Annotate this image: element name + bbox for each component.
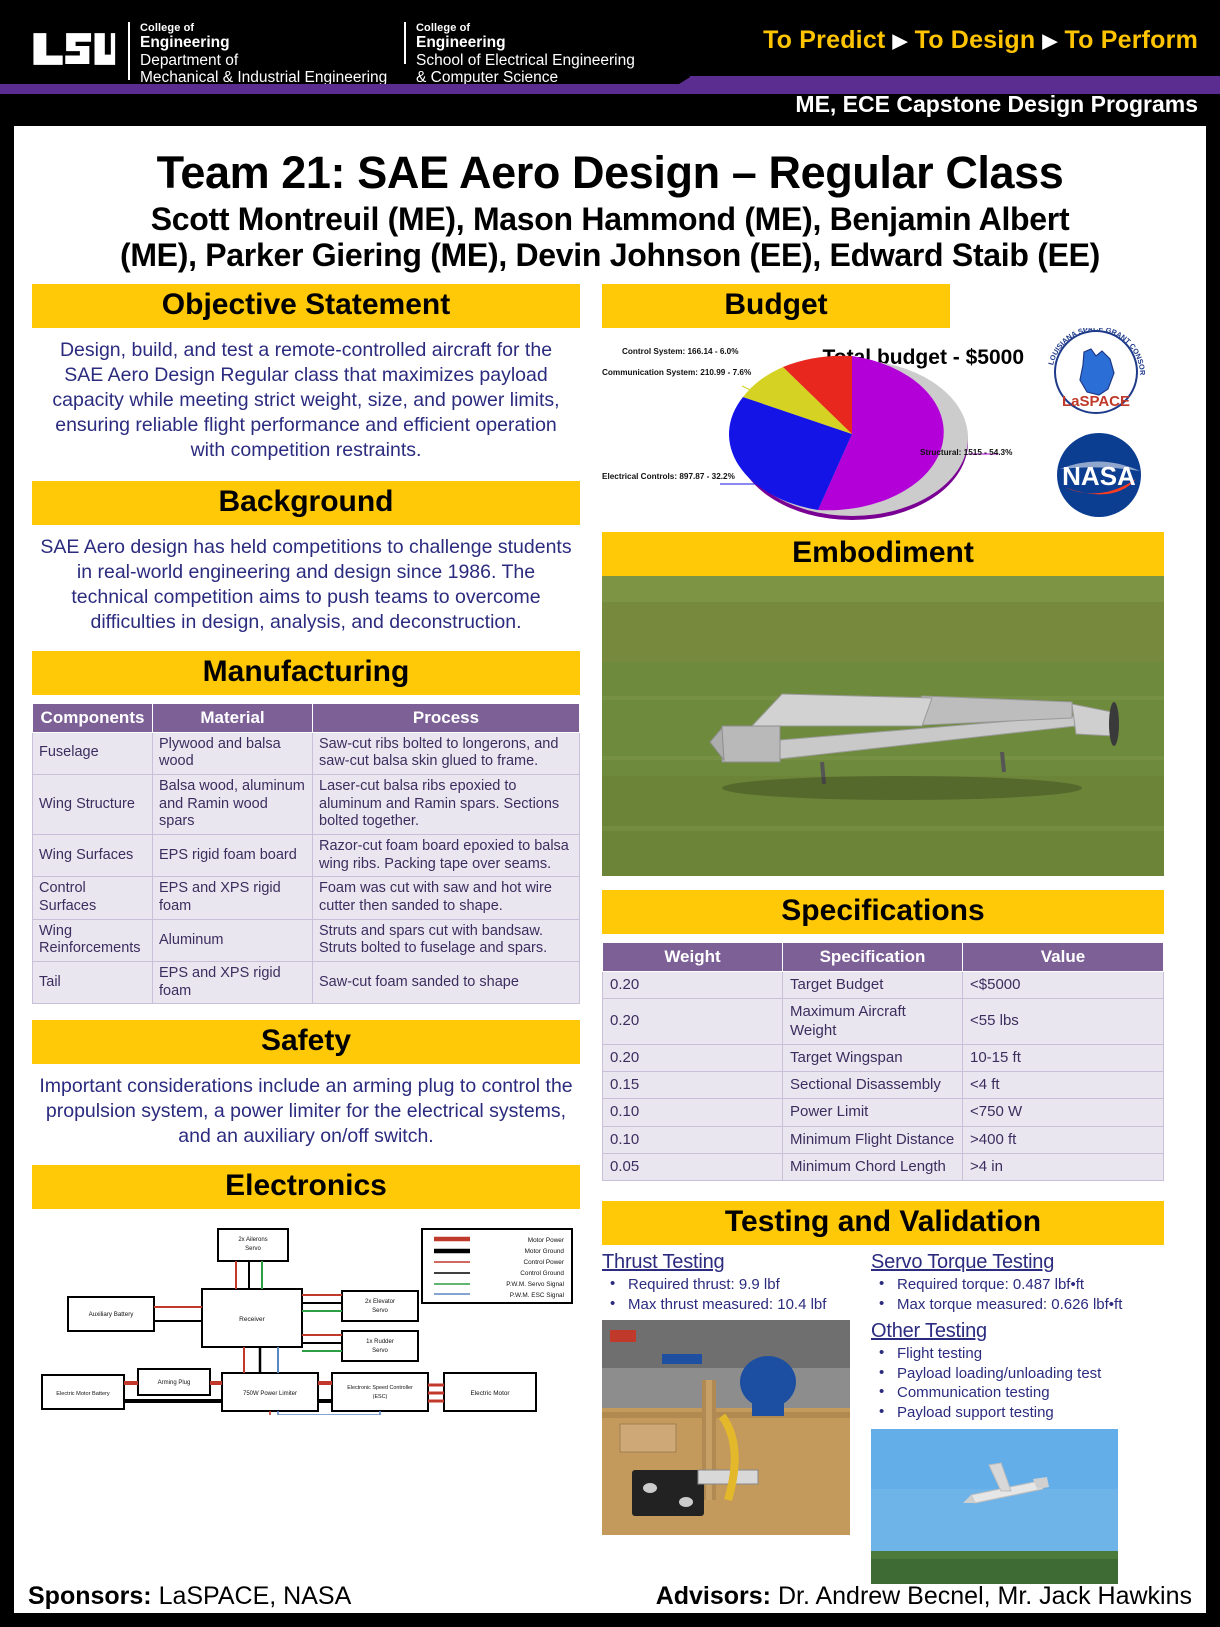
cell-weight: 0.10 [603,1126,783,1153]
cell-weight: 0.20 [603,999,783,1045]
author-line-1: Scott Montreuil (ME), Mason Hammond (ME)… [32,201,1188,237]
cell-value: >400 ft [963,1126,1164,1153]
table-row: Fuselage Plywood and balsa wood Saw-cut … [33,732,580,774]
list-item: Payload loading/unloading test [871,1364,1161,1384]
servo-other-testing-block: Servo Torque Testing Required torque: 0.… [871,1251,1161,1584]
me-department-block: College of Engineering Department of Mec… [140,22,387,86]
manufacturing-header-row: Components Material Process [33,703,580,732]
elec-label-receiver: Receiver [239,1316,265,1323]
svg-text:(ESC): (ESC) [373,1394,388,1400]
sponsors-block: Sponsors: LaSPACE, NASA [28,1582,548,1611]
cell-component: Wing Reinforcements [33,919,153,961]
spec-col-specification: Specification [783,942,963,971]
nasa-logo-icon: NASA [1046,427,1152,523]
table-row: 0.20 Maximum Aircraft Weight <55 lbs [603,999,1164,1045]
cell-value: <4 ft [963,1072,1164,1099]
cell-spec: Power Limit [783,1099,963,1126]
budget-heading: Budget [602,284,950,328]
arrow-right-icon-2: ▶ [1043,31,1058,52]
cell-material: EPS rigid foam board [153,834,313,876]
left-column: Objective Statement Design, build, and t… [32,284,580,1584]
laspace-logo-icon: LOUISIANA SPACE GRANT CONSORTIUM LaSPACE [1034,328,1158,420]
elec-label-motor-battery: Electric Motor Battery [56,1391,110,1397]
table-row: Wing Reinforcements Aluminum Struts and … [33,919,580,961]
purple-rule-right [690,76,1220,86]
cell-component: Tail [33,962,153,1004]
cell-weight: 0.20 [603,971,783,998]
cell-spec: Target Budget [783,971,963,998]
electronics-heading: Electronics [32,1165,580,1209]
list-item: Max torque measured: 0.626 lbf•ft [871,1295,1161,1315]
cell-component: Fuselage [33,732,153,774]
spec-col-weight: Weight [603,942,783,971]
ece-school-line1: School of Electrical Engineering [416,52,635,69]
thrust-testing-heading: Thrust Testing [602,1251,857,1274]
embodiment-heading: Embodiment [602,532,1164,576]
page-title: Team 21: SAE Aero Design – Regular Class [32,150,1188,195]
list-item: Communication testing [871,1383,1161,1403]
cell-process: Saw-cut foam sanded to shape [313,962,580,1004]
list-item: Payload support testing [871,1403,1161,1423]
right-column: Budget Total budget - $5000 [602,284,1164,1584]
elec-label-rudder: 1x Rudder [366,1339,394,1345]
legend-control-ground: Control Ground [520,1270,564,1277]
spec-col-value: Value [963,942,1164,971]
pie-label-control-system: Control System: 166.14 - 6.0% [622,347,739,356]
background-text: SAE Aero design has held competitions to… [32,525,580,635]
testing-columns: Thrust Testing Required thrust: 9.9 lbf … [602,1251,1164,1584]
testing-heading: Testing and Validation [602,1201,1164,1245]
advisors-block: Advisors: Dr. Andrew Becnel, Mr. Jack Ha… [548,1582,1192,1611]
thrust-test-photo [602,1320,850,1535]
tagline-perform: To Perform [1065,26,1199,54]
cell-process: Struts and spars cut with bandsaw. Strut… [313,919,580,961]
cell-weight: 0.20 [603,1044,783,1071]
cell-component: Control Surfaces [33,877,153,919]
cell-spec: Minimum Flight Distance [783,1126,963,1153]
other-testing-heading: Other Testing [871,1320,1161,1343]
cell-material: Plywood and balsa wood [153,732,313,774]
ece-engineering-label: Engineering [416,34,635,51]
cell-spec: Maximum Aircraft Weight [783,999,963,1045]
elec-label-esc: Electronic Speed Controller [347,1385,413,1391]
cell-material: EPS and XPS rigid foam [153,962,313,1004]
elec-label-ailerons: 2x Ailerons [238,1237,267,1243]
flight-test-photo [871,1429,1118,1584]
sponsor-logos: LOUISIANA SPACE GRANT CONSORTIUM LaSPACE… [1034,328,1164,523]
author-list: Scott Montreuil (ME), Mason Hammond (ME)… [32,201,1188,274]
legend-pwm-servo: P.W.M. Servo Signal [506,1281,564,1288]
table-row: 0.05 Minimum Chord Length >4 in [603,1154,1164,1181]
legend-pwm-esc: P.W.M. ESC Signal [510,1292,564,1299]
me-dept-line1: Department of [140,52,387,69]
arrow-right-icon-1: ▶ [893,31,908,52]
cell-spec: Target Wingspan [783,1044,963,1071]
poster-canvas: Team 21: SAE Aero Design – Regular Class… [14,126,1206,1613]
legend-motor-power: Motor Power [528,1237,565,1244]
safety-heading: Safety [32,1020,580,1064]
cell-weight: 0.10 [603,1099,783,1126]
page-header: College of Engineering Department of Mec… [0,0,1220,122]
electronics-diagram: 2x Ailerons Servo Receiver 2x Elevator S… [32,1215,580,1415]
budget-section: Total budget - $5000 [602,328,1164,526]
manufacturing-col-components: Components [33,703,153,732]
servo-testing-list: Required torque: 0.487 lbf•ft Max torque… [871,1275,1161,1314]
cell-value: 10-15 ft [963,1044,1164,1071]
legend-motor-ground: Motor Ground [525,1248,565,1255]
sponsors-label: Sponsors: [28,1582,152,1610]
servo-testing-heading: Servo Torque Testing [871,1251,1161,1274]
list-item: Required thrust: 9.9 lbf [602,1275,857,1295]
cell-spec: Sectional Disassembly [783,1072,963,1099]
list-item: Max thrust measured: 10.4 lbf [602,1295,857,1315]
cell-material: Aluminum [153,919,313,961]
manufacturing-col-material: Material [153,703,313,732]
pie-label-structural: Structural: 1515 - 54.3% [920,448,1012,457]
manufacturing-col-process: Process [313,703,580,732]
pie-label-electrical-controls: Electrical Controls: 897.87 - 32.2% [602,472,735,481]
poster-columns: Objective Statement Design, build, and t… [32,284,1188,1584]
table-row: 0.20 Target Wingspan 10-15 ft [603,1044,1164,1071]
cell-process: Razor-cut foam board epoxied to balsa wi… [313,834,580,876]
cell-value: <$5000 [963,971,1164,998]
cell-material: EPS and XPS rigid foam [153,877,313,919]
other-testing-list: Flight testing Payload loading/unloading… [871,1344,1161,1422]
svg-text:Servo: Servo [372,1308,388,1314]
embodiment-photo [602,576,1164,876]
capstone-program-label: ME, ECE Capstone Design Programs [795,91,1198,118]
cell-value: >4 in [963,1154,1164,1181]
cell-process: Saw-cut ribs bolted to longerons, and sa… [313,732,580,774]
table-row: Wing Surfaces EPS rigid foam board Razor… [33,834,580,876]
cell-material: Balsa wood, aluminum and Ramin wood spar… [153,774,313,834]
tagline-predict: To Predict [763,26,885,54]
table-row: 0.10 Minimum Flight Distance >400 ft [603,1126,1164,1153]
manufacturing-heading: Manufacturing [32,651,580,695]
table-row: Tail EPS and XPS rigid foam Saw-cut foam… [33,962,580,1004]
budget-pie-chart: Control System: 166.14 - 6.0% Communicat… [602,334,1022,524]
elec-label-arming-plug: Arming Plug [158,1380,191,1386]
elec-label-motor: Electric Motor [470,1390,510,1397]
program-tagline: To Predict ▶ To Design ▶ To Perform [763,26,1198,55]
elec-label-power-limiter: 750W Power Limiter [243,1391,297,1397]
cell-value: <55 lbs [963,999,1164,1045]
manufacturing-table: Components Material Process Fuselage Ply… [32,703,580,1005]
cell-component: Wing Surfaces [33,834,153,876]
tagline-design: To Design [915,26,1036,54]
elec-label-aux-battery: Auxiliary Battery [89,1311,135,1318]
svg-text:Servo: Servo [372,1348,388,1354]
legend-control-power: Control Power [524,1259,565,1266]
table-row: Control Surfaces EPS and XPS rigid foam … [33,877,580,919]
sponsors-value: LaSPACE, NASA [159,1582,352,1610]
svg-text:Servo: Servo [245,1246,261,1252]
specifications-heading: Specifications [602,890,1164,934]
elec-label-elevator: 2x Elevator [365,1299,395,1305]
pie-label-communication-system: Communication System: 210.99 - 7.6% [602,368,751,377]
objective-text: Design, build, and test a remote-control… [32,328,580,463]
author-line-2: (ME), Parker Giering (ME), Devin Johnson… [32,237,1188,273]
table-row: 0.20 Target Budget <$5000 [603,971,1164,998]
thrust-testing-block: Thrust Testing Required thrust: 9.9 lbf … [602,1251,857,1584]
ece-college-label: College of [416,22,635,34]
table-row: Wing Structure Balsa wood, aluminum and … [33,774,580,834]
advisors-label: Advisors: [656,1582,771,1610]
header-divider-1 [128,22,130,80]
table-row: 0.15 Sectional Disassembly <4 ft [603,1072,1164,1099]
advisors-value: Dr. Andrew Becnel, Mr. Jack Hawkins [778,1582,1192,1610]
background-heading: Background [32,481,580,525]
nasa-wordmark: NASA [1062,461,1136,491]
cell-spec: Minimum Chord Length [783,1154,963,1181]
cell-weight: 0.05 [603,1154,783,1181]
safety-text: Important considerations include an armi… [32,1064,580,1149]
cell-process: Foam was cut with saw and hot wire cutte… [313,877,580,919]
poster-footer: Sponsors: LaSPACE, NASA Advisors: Dr. An… [14,1582,1206,1611]
table-row: 0.10 Power Limit <750 W [603,1099,1164,1126]
lsu-logo-icon [30,28,116,70]
thrust-testing-list: Required thrust: 9.9 lbf Max thrust meas… [602,1275,857,1314]
list-item: Flight testing [871,1344,1161,1364]
cell-process: Laser-cut balsa ribs epoxied to aluminum… [313,774,580,834]
objective-heading: Objective Statement [32,284,580,328]
list-item: Required torque: 0.487 lbf•ft [871,1275,1161,1295]
me-engineering-label: Engineering [140,34,387,51]
specifications-table: Weight Specification Value 0.20 Target B… [602,942,1164,1181]
ece-department-block: College of Engineering School of Electri… [416,22,635,86]
laspace-wordmark: LaSPACE [1062,393,1130,410]
cell-value: <750 W [963,1099,1164,1126]
specifications-header-row: Weight Specification Value [603,942,1164,971]
me-college-label: College of [140,22,387,34]
cell-weight: 0.15 [603,1072,783,1099]
header-divider-2 [404,22,406,64]
cell-component: Wing Structure [33,774,153,834]
